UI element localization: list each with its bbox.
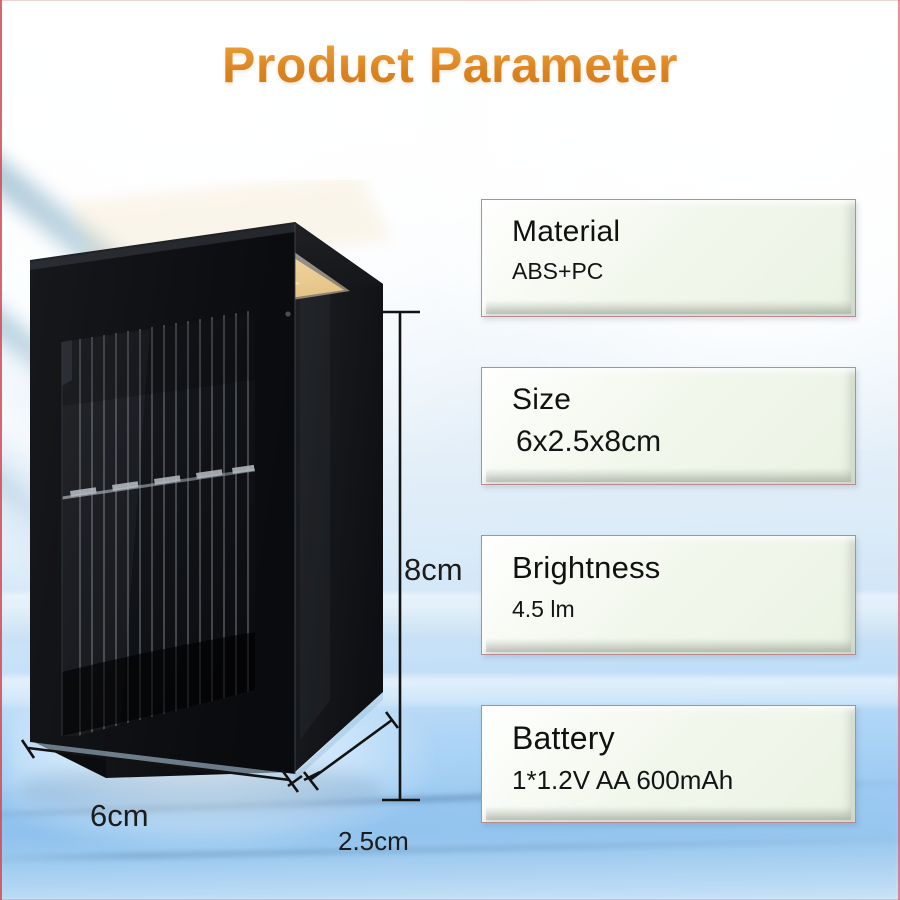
product-parameter-infographic: Product Parameter — [0, 0, 900, 900]
dimension-label-width: 6cm — [90, 798, 149, 834]
spec-card-size[interactable]: Size 6x2.5x8cm — [481, 367, 856, 485]
spec-card-material[interactable]: Material ABS+PC — [481, 199, 856, 317]
spec-value-size: 6x2.5x8cm — [516, 423, 855, 461]
spec-card-list: Material ABS+PC Size 6x2.5x8cm Brightnes… — [481, 199, 856, 823]
dim-cap-depth-right — [386, 712, 398, 728]
spec-label-size: Size — [512, 382, 855, 417]
spec-label-material: Material — [512, 214, 855, 249]
spec-label-battery: Battery — [512, 720, 855, 758]
spec-card-brightness[interactable]: Brightness 4.5 lm — [481, 535, 856, 655]
spec-label-brightness: Brightness — [512, 550, 855, 587]
spec-value-material: ABS+PC — [512, 257, 855, 286]
dimension-label-depth: 2.5cm — [338, 826, 409, 857]
sensor-dot — [285, 311, 290, 316]
spec-value-battery: 1*1.2V AA 600mAh — [512, 764, 855, 797]
panel-corner-highlight — [62, 340, 72, 386]
page-title: Product Parameter — [0, 36, 900, 94]
spec-value-brightness: 4.5 lm — [512, 595, 855, 624]
spec-card-battery[interactable]: Battery 1*1.2V AA 600mAh — [481, 705, 856, 823]
frame-border-top — [0, 0, 900, 1]
dimension-label-height: 8cm — [404, 552, 463, 588]
product-side-sheen — [300, 230, 330, 740]
product-image — [0, 180, 470, 880]
